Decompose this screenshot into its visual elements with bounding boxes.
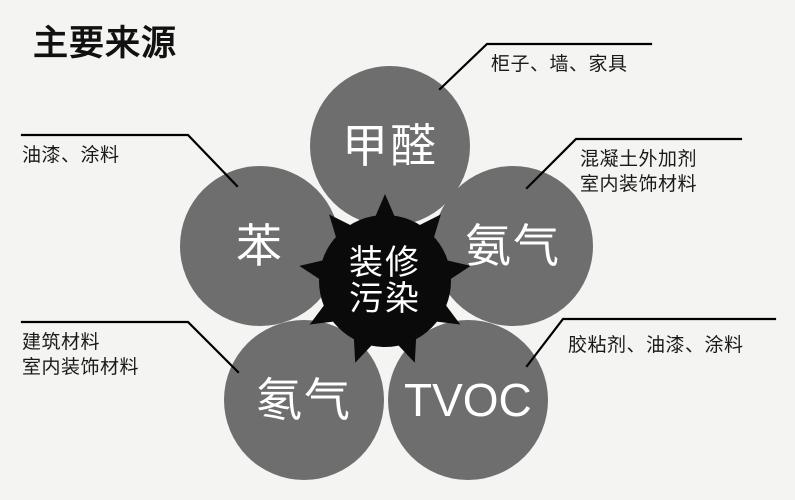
- callout-tvoc-source: 胶粘剂、油漆、涂料: [568, 333, 744, 358]
- callout-formaldehyde-source-line-1: 柜子、墙、家具: [491, 54, 628, 75]
- callout-radon-source-line-1: 建筑材料: [22, 332, 100, 353]
- center-core-circle[interactable]: [319, 215, 451, 347]
- callout-ammonia-source-line-1: 混凝土外加剂: [580, 149, 697, 170]
- node-circle-formaldehyde[interactable]: [310, 66, 470, 226]
- callout-benzene-source-line-1: 油漆、涂料: [22, 145, 120, 166]
- callout-tvoc-source-line-1: 胶粘剂、油漆、涂料: [568, 335, 744, 356]
- callout-radon-source-line-2: 室内装饰材料: [22, 355, 139, 380]
- diagram-canvas: 主要来源 甲醛苯氨气氡气TVOC 装修 污染 油漆、涂料柜子、墙、家具混凝土外加…: [0, 0, 795, 500]
- callout-benzene-source: 油漆、涂料: [22, 143, 120, 168]
- node-circle-benzene[interactable]: [180, 166, 340, 326]
- page-title: 主要来源: [33, 26, 177, 61]
- node-circle-ammonia[interactable]: [433, 166, 593, 326]
- callout-formaldehyde-source: 柜子、墙、家具: [491, 52, 628, 77]
- diagram-graphics: [0, 0, 795, 500]
- callout-ammonia-source: 混凝土外加剂室内装饰材料: [580, 147, 697, 197]
- callout-ammonia-source-line-2: 室内装饰材料: [580, 172, 697, 197]
- callout-radon-source: 建筑材料室内装饰材料: [22, 330, 139, 380]
